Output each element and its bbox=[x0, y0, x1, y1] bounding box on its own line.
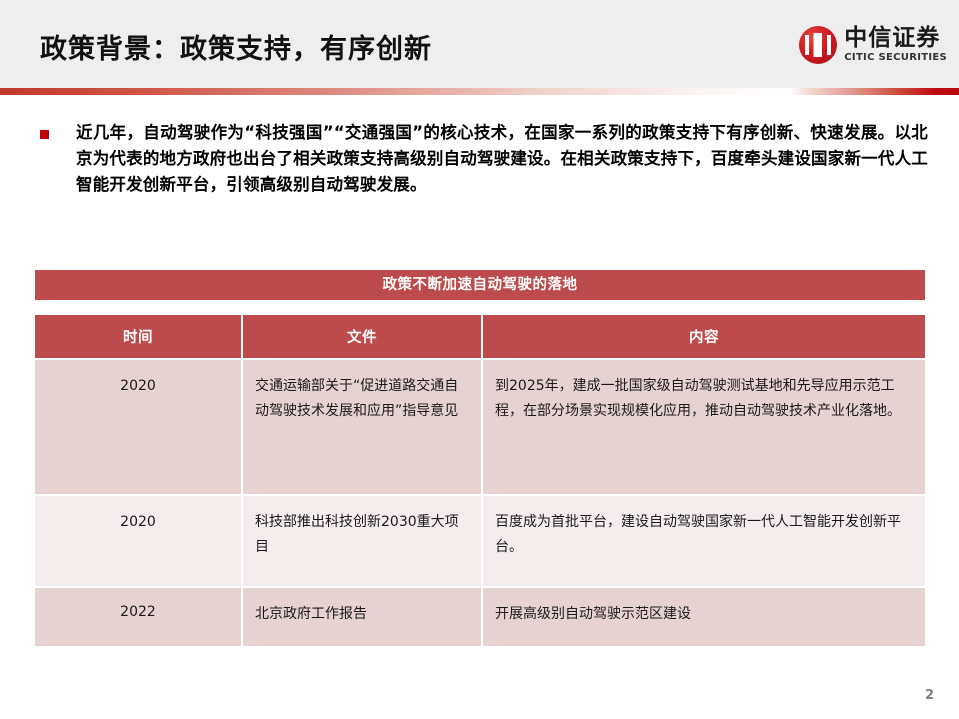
cell-content: 开展高级别自动驾驶示范区建设 bbox=[483, 586, 925, 646]
accent-divider-main bbox=[0, 88, 790, 95]
bullet-square-icon bbox=[40, 130, 49, 139]
cell-document: 科技部推出科技创新2030重大项目 bbox=[243, 494, 483, 586]
cell-document: 北京政府工作报告 bbox=[243, 586, 483, 646]
logo-text-en: CITIC SECURITIES bbox=[844, 53, 947, 63]
accent-divider-tail bbox=[790, 88, 959, 95]
policy-table-body: 2020 交通运输部关于“促进道路交通自动驾驶技术发展和应用”指导意见 到202… bbox=[35, 358, 925, 646]
table-header-row: 时间 文件 内容 bbox=[35, 315, 925, 358]
citic-securities-logo: 中信证券 CITIC SECURITIES bbox=[799, 26, 947, 64]
cell-content: 到2025年，建成一批国家级自动驾驶测试基地和先导应用示范工程，在部分场景实现规… bbox=[483, 358, 925, 494]
cell-document: 交通运输部关于“促进道路交通自动驾驶技术发展和应用”指导意见 bbox=[243, 358, 483, 494]
bullet-paragraph-text: 近几年，自动驾驶作为“科技强国”“交通强国”的核心技术，在国家一系列的政策支持下… bbox=[76, 120, 928, 198]
cell-time: 2022 bbox=[35, 586, 243, 646]
page-title: 政策背景：政策支持，有序创新 bbox=[40, 27, 432, 66]
logo-text-cn: 中信证券 bbox=[844, 27, 947, 50]
policy-table-section: 政策不断加速自动驾驶的落地 时间 文件 内容 2020 交通运输部关于“促进道路… bbox=[35, 270, 925, 646]
slide-header: 政策背景：政策支持，有序创新 中信证券 CITIC SECURITIES bbox=[0, 0, 959, 88]
table-row: 2020 科技部推出科技创新2030重大项目 百度成为首批平台，建设自动驾驶国家… bbox=[35, 494, 925, 586]
cell-time: 2020 bbox=[35, 358, 243, 494]
logo-text: 中信证券 CITIC SECURITIES bbox=[844, 27, 947, 63]
column-header-content: 内容 bbox=[483, 315, 925, 358]
policy-table: 时间 文件 内容 2020 交通运输部关于“促进道路交通自动驾驶技术发展和应用”… bbox=[35, 315, 925, 646]
table-row: 2022 北京政府工作报告 开展高级别自动驾驶示范区建设 bbox=[35, 586, 925, 646]
cell-content: 百度成为首批平台，建设自动驾驶国家新一代人工智能开发创新平台。 bbox=[483, 494, 925, 586]
policy-table-caption: 政策不断加速自动驾驶的落地 bbox=[35, 270, 925, 300]
column-header-document: 文件 bbox=[243, 315, 483, 358]
policy-table-head: 时间 文件 内容 bbox=[35, 315, 925, 358]
page-number: 2 bbox=[925, 688, 934, 703]
accent-divider bbox=[0, 88, 959, 95]
citic-emblem-icon bbox=[799, 26, 837, 64]
cell-time: 2020 bbox=[35, 494, 243, 586]
table-row: 2020 交通运输部关于“促进道路交通自动驾驶技术发展和应用”指导意见 到202… bbox=[35, 358, 925, 494]
column-header-time: 时间 bbox=[35, 315, 243, 358]
bullet-paragraph: 近几年，自动驾驶作为“科技强国”“交通强国”的核心技术，在国家一系列的政策支持下… bbox=[40, 120, 928, 198]
